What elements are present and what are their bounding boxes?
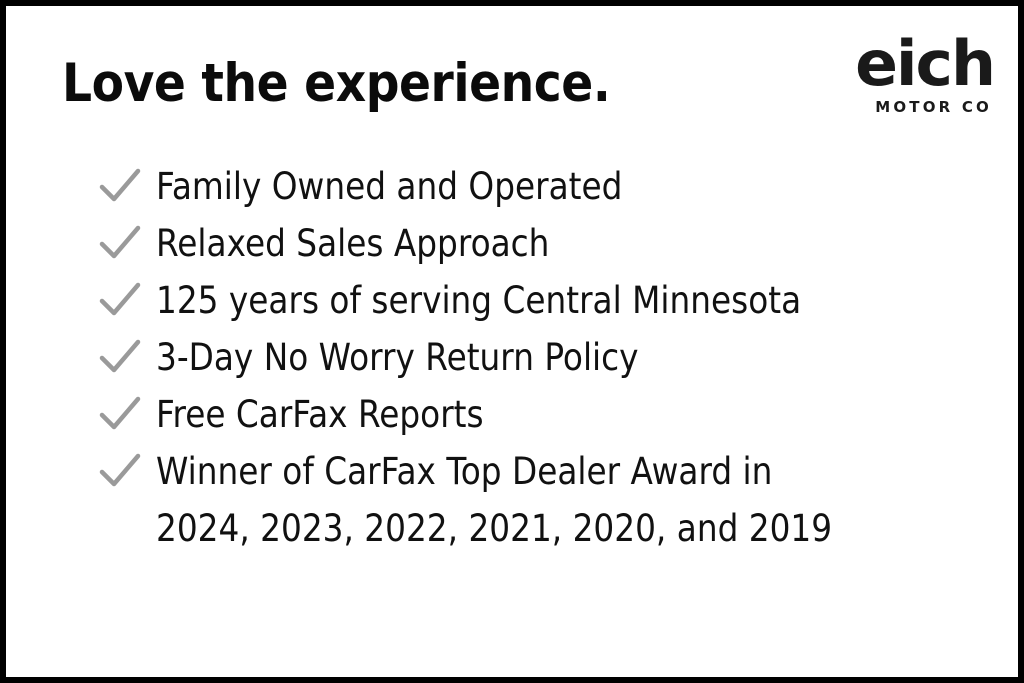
list-item-label: Free CarFax Reports: [156, 386, 892, 443]
list-item: 125 years of serving Central Minnesota: [98, 272, 988, 329]
logo-wordmark: eich: [810, 32, 994, 96]
list-item-label: Family Owned and Operated: [156, 158, 892, 215]
check-icon: [98, 451, 142, 491]
list-item-label: Winner of CarFax Top Dealer Award in: [156, 443, 892, 500]
list-item-label-continuation: 2024, 2023, 2022, 2021, 2020, and 2019: [156, 500, 892, 557]
check-icon: [98, 394, 142, 434]
list-item: 3-Day No Worry Return Policy: [98, 329, 988, 386]
check-icon: [98, 337, 142, 377]
eich-motor-co-logo: eich MOTOR CO: [814, 32, 994, 116]
check-icon: [98, 223, 142, 263]
page-title: Love the experience.: [62, 54, 610, 114]
list-item-label: 3-Day No Worry Return Policy: [156, 329, 892, 386]
feature-list: Family Owned and Operated Relaxed Sales …: [98, 158, 988, 557]
check-icon: [98, 280, 142, 320]
dealer-value-proposition-card: Love the experience. eich MOTOR CO Famil…: [0, 0, 1024, 683]
list-item-label: 125 years of serving Central Minnesota: [156, 272, 892, 329]
list-item-label: Relaxed Sales Approach: [156, 215, 892, 272]
logo-subtitle: MOTOR CO: [814, 98, 994, 116]
check-icon: [98, 166, 142, 206]
list-item: Free CarFax Reports: [98, 386, 988, 443]
list-item: Relaxed Sales Approach: [98, 215, 988, 272]
list-item: Winner of CarFax Top Dealer Award in 202…: [98, 443, 988, 557]
card-header: Love the experience. eich MOTOR CO: [6, 6, 1018, 136]
list-item: Family Owned and Operated: [98, 158, 988, 215]
